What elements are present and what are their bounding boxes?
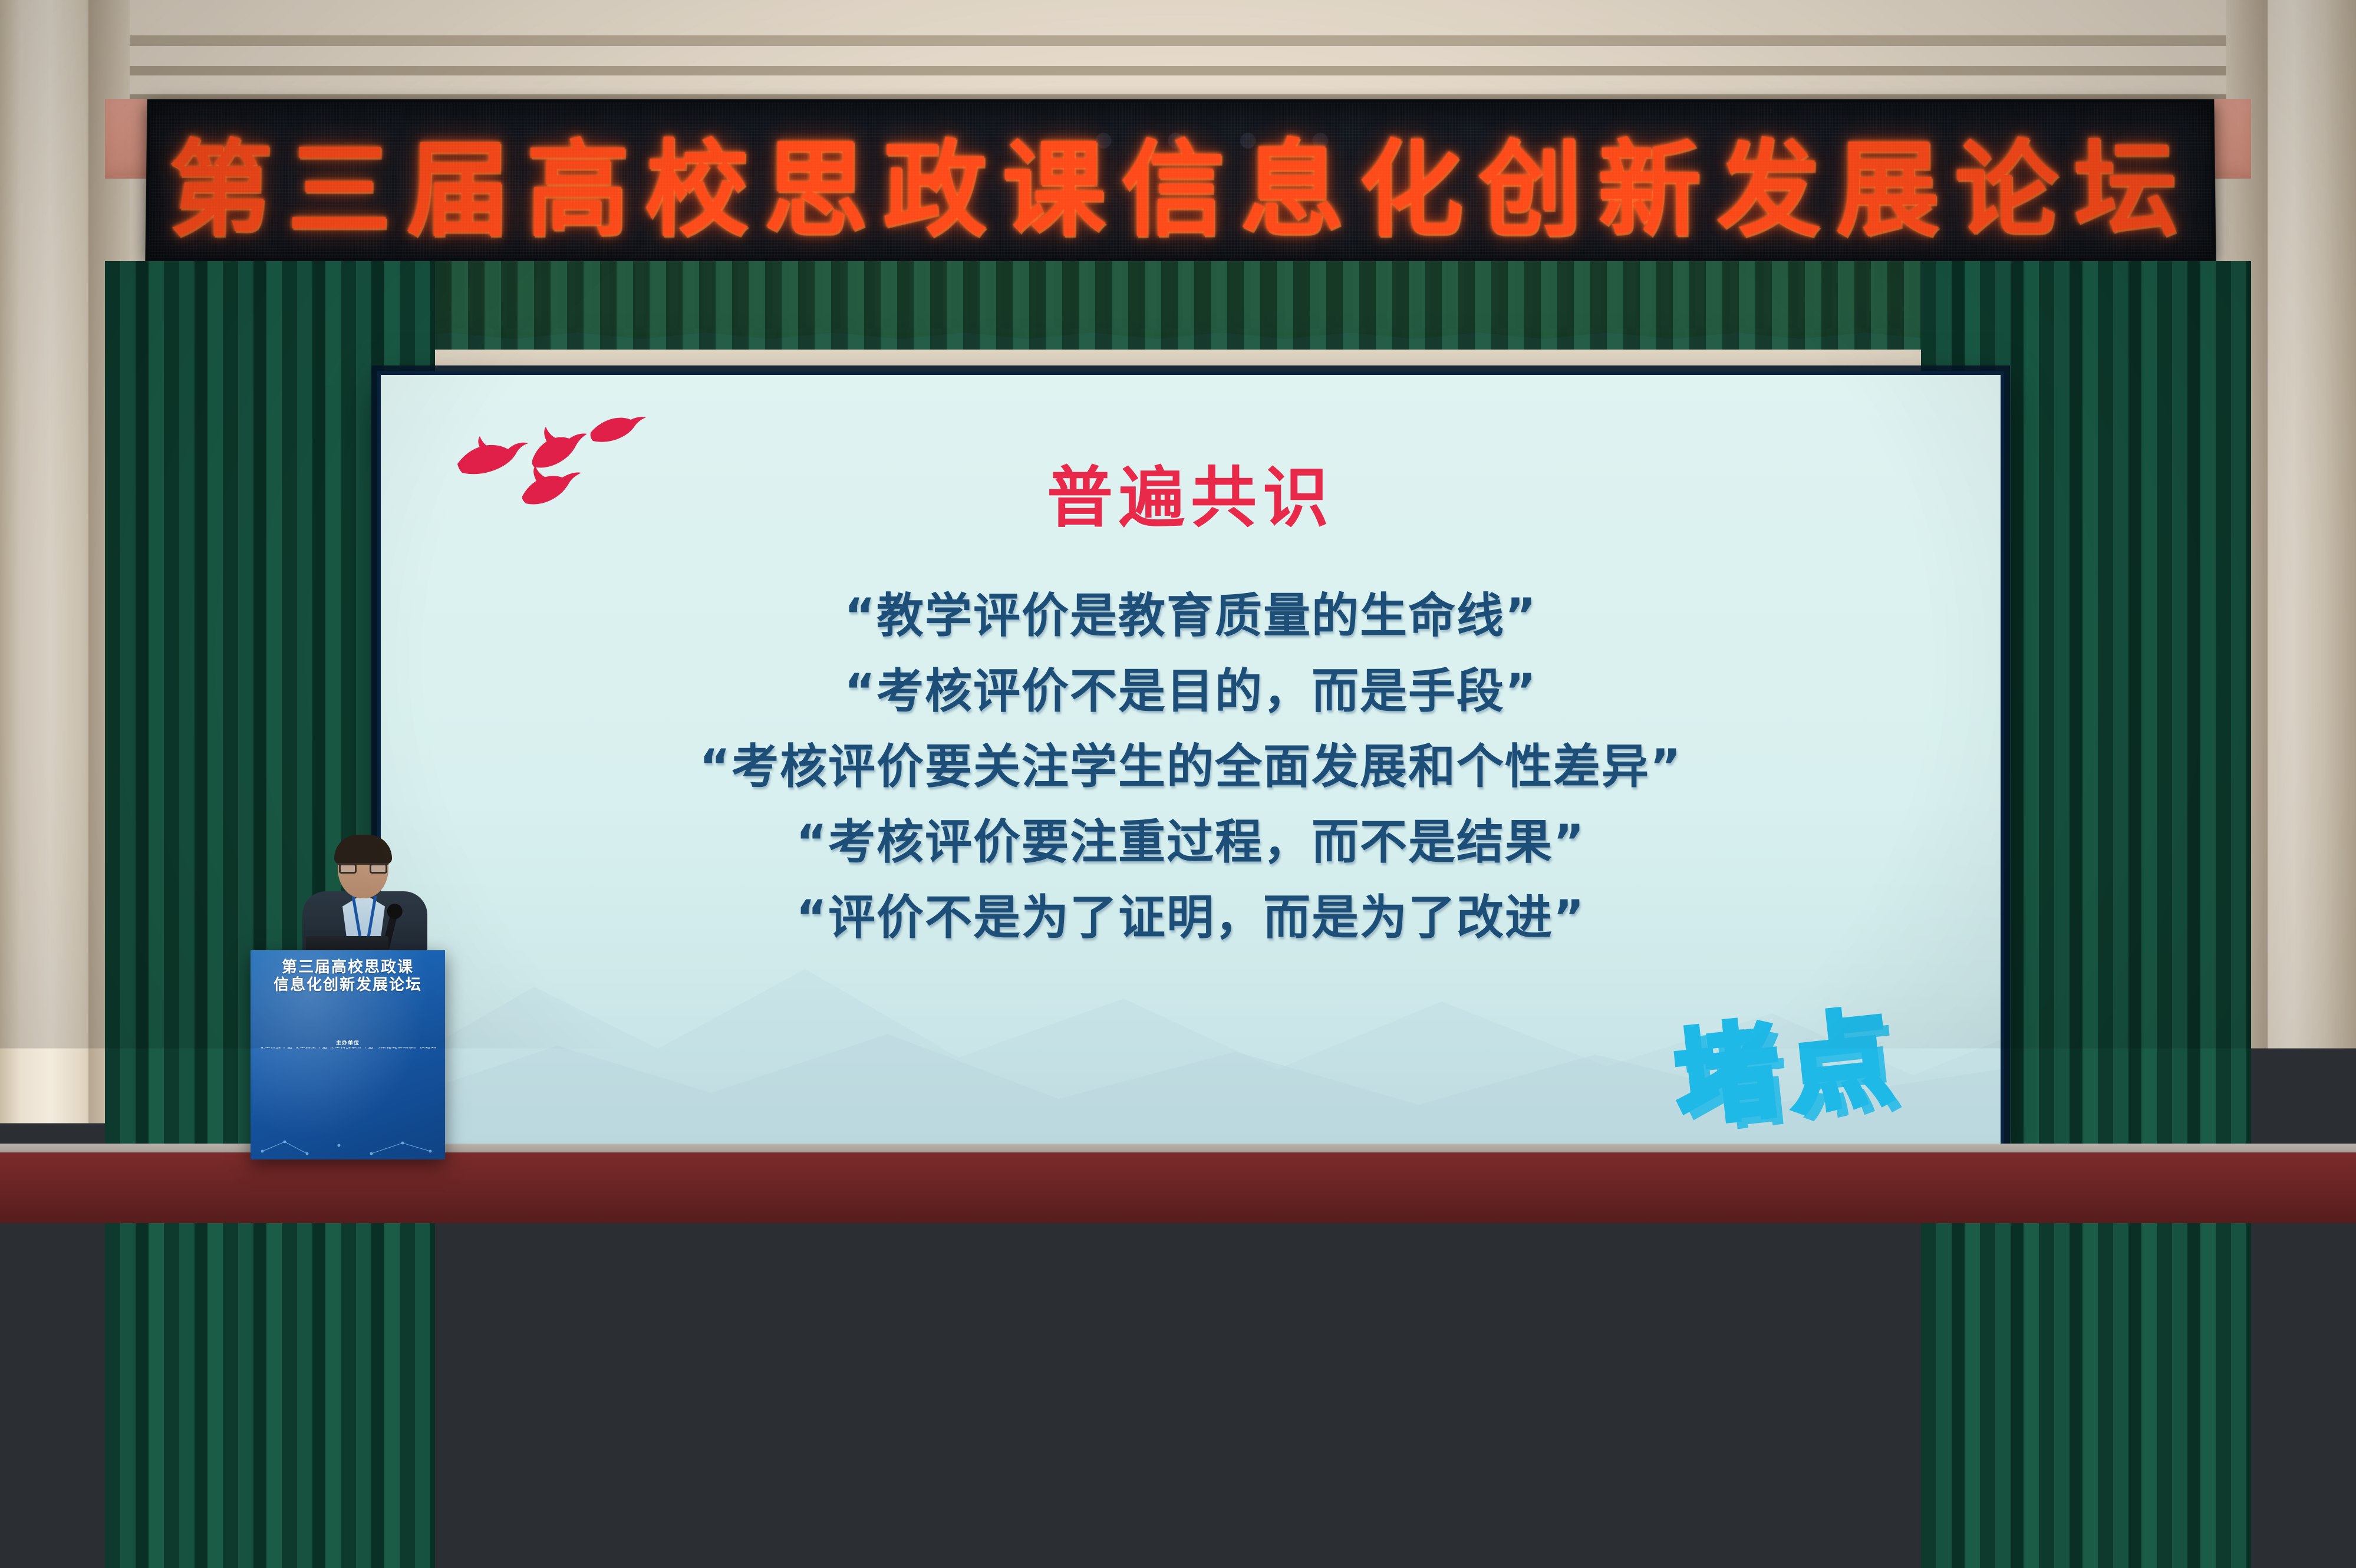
speaker-figure (292, 837, 439, 964)
projection-screen: 普遍共识 “教学评价是教育质量的生命线” “考核评价不是目的，而是手段” “考核… (381, 375, 2001, 1146)
cornice-molding-top (0, 35, 2356, 46)
podium-organizer-block: 主办单位 北京科技大学 北京邮电大学 北京科技职业大学 《思想教育研究》编辑部 … (251, 1025, 445, 1126)
podium-coorganizers-line1: 全国高校数字马院联盟 北京科技大学思想与文化数字化研究院 (256, 1093, 439, 1101)
podium-organizers: 北京科技大学 北京邮电大学 北京科技职业大学 《思想教育研究》编辑部 (256, 1046, 439, 1053)
podium-organizer-heading: 主办单位 (256, 1039, 439, 1046)
slide-bullet-2: “考核评价不是目的，而是手段” (381, 654, 2001, 729)
projection-screen-frame: 普遍共识 “教学评价是教育质量的生命线” “考核评价不是目的，而是手段” “考核… (377, 371, 2004, 1149)
led-banner-text: 第三届高校思政课信息化创新发展论坛 (149, 105, 2212, 255)
slide-bullet-1: “教学评价是教育质量的生命线” (381, 578, 2001, 654)
podium-date-location: 2025.12.13 | 中国·北京 (256, 1114, 439, 1126)
conference-photo-scene: ● ● ● ● 第三届高校思政课信息化创新发展论坛 (0, 0, 2356, 1568)
podium-title-line1: 第三届高校思政课 (256, 958, 439, 976)
speaker-hair (334, 835, 392, 864)
podium-hosts-line2: 教育部高校思想政治工作创新发展中心（北京科技职业大学） (256, 1073, 439, 1081)
podium-coorganizers-line2: 北京科技职业大学马克思主义学院 华北电力大学马克思主义学院（保定） (256, 1101, 439, 1108)
slide-bullet-4: “考核评价要注重过程，而不是结果” (381, 805, 2001, 880)
podium-host-heading: 承办单位 (256, 1059, 439, 1066)
slide-bullet-5: “评价不是为了证明，而是为了改进” (381, 880, 2001, 956)
podium-title-line2: 信息化创新发展论坛 (256, 976, 439, 994)
podium-coorganizer-heading: 协办单位 (256, 1086, 439, 1093)
slide-title: 普遍共识 (381, 444, 2001, 540)
audience-area (0, 1049, 2356, 1568)
audience-silhouettes (0, 1049, 2356, 1568)
podium-hosts-line1: 北京科技大学马克思主义学院 北京邮电大学马克思主义学院 (256, 1066, 439, 1073)
led-banner-display: ● ● ● ● 第三届高校思政课信息化创新发展论坛 (145, 99, 2216, 261)
speaker-glasses-icon (338, 863, 388, 872)
cornice-molding-mid (0, 66, 2356, 75)
slide-bullet-3: “考核评价要关注学生的全面发展和个性差异” (381, 729, 2001, 805)
slide-bullet-list: “教学评价是教育质量的生命线” “考核评价不是目的，而是手段” “考核评价要关注… (381, 578, 2001, 956)
